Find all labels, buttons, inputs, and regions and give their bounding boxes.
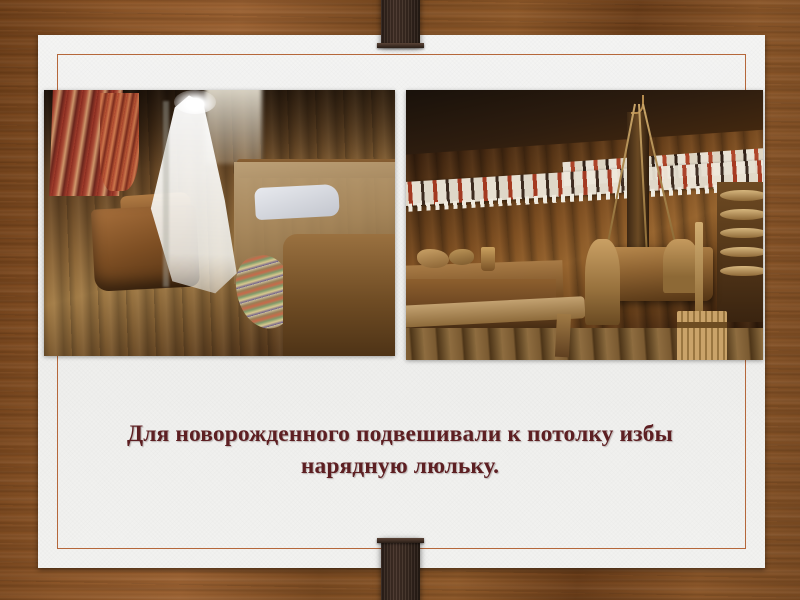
bird-shaped-bowl xyxy=(449,249,474,265)
wooden-dish xyxy=(720,266,763,277)
left-photo-scene xyxy=(44,90,395,356)
pestle xyxy=(695,222,703,319)
caption-text: Для новорожденного подвешивали к потолку… xyxy=(75,418,725,483)
canopy-fold xyxy=(163,101,168,287)
photo-hanging-cradle-izba xyxy=(406,90,763,360)
clip-top-cap xyxy=(377,43,424,48)
slide-canvas: Для новорожденного подвешивали к потолку… xyxy=(0,0,800,600)
ceiling-beams xyxy=(406,90,763,155)
wooden-dish xyxy=(720,190,763,201)
pillow xyxy=(254,184,340,220)
bird-shaped-bowl xyxy=(417,249,449,268)
wooden-dish xyxy=(720,247,763,258)
cradle-end-panel-left xyxy=(585,239,621,325)
wooden-dish xyxy=(720,209,763,220)
wooden-tub xyxy=(677,311,727,360)
clip-top xyxy=(381,0,420,48)
bench-leg xyxy=(555,314,572,358)
canopy-crown xyxy=(174,90,216,114)
caption-line-2: нарядную люльку. xyxy=(75,450,725,482)
clip-bottom xyxy=(381,540,420,600)
hanging-textile-red xyxy=(100,93,139,191)
tub-hoop xyxy=(677,322,727,327)
cradle-end-panel-right xyxy=(663,239,699,293)
right-photo-scene xyxy=(406,90,763,360)
photo-cradle-with-canopy xyxy=(44,90,395,356)
copper-jug xyxy=(481,247,495,271)
clip-bottom-cap xyxy=(377,538,424,543)
floor-boards xyxy=(44,287,395,356)
caption-line-1: Для новорожденного подвешивали к потолку… xyxy=(75,418,725,450)
